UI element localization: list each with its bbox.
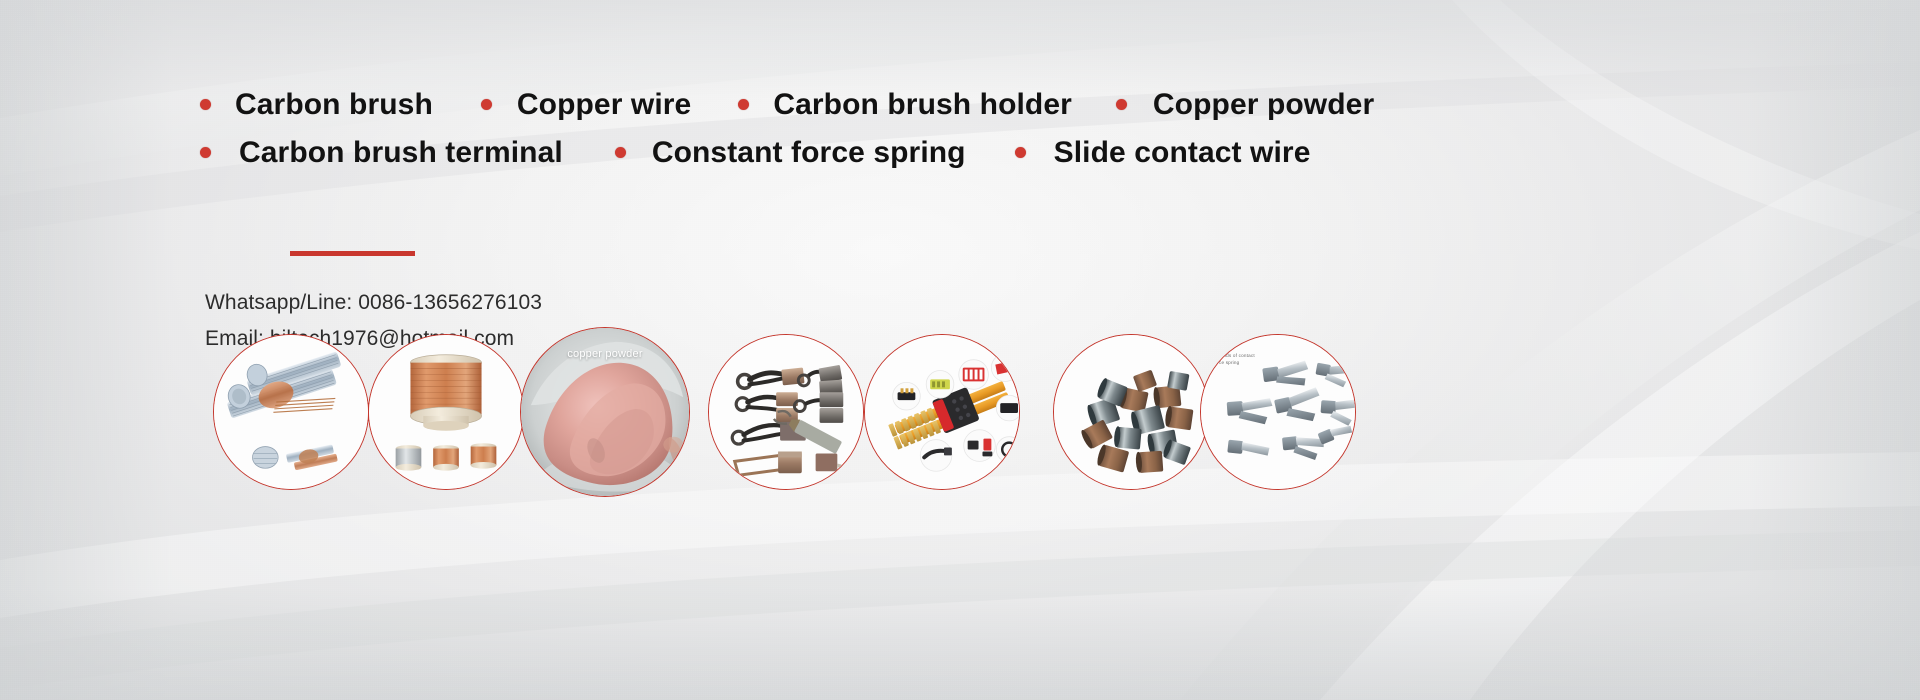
product-circle-carbon-brush-terminal[interactable] — [708, 334, 864, 490]
feature-item-carbon-brush-holder: Carbon brush holder — [738, 88, 1072, 121]
feature-row-2: Carbon brush terminal Constant force spr… — [232, 136, 1472, 169]
feature-item-carbon-brush-terminal: Carbon brush terminal — [200, 136, 563, 169]
contact-force-spring-caption: all kinds of contact force spring — [1213, 353, 1255, 366]
feature-label: Copper powder — [1153, 88, 1374, 121]
bullet-dot-icon — [481, 99, 492, 110]
feature-row-1: Carbon brush Copper wire Carbon brush ho… — [232, 88, 1472, 121]
copper-powder-caption: copper powder — [521, 348, 689, 360]
constant-force-spring-artwork — [1054, 335, 1208, 489]
feature-item-carbon-brush: Carbon brush — [200, 88, 433, 121]
braided-copper-wire-strip-artwork — [214, 335, 368, 489]
product-circle-contact-force-spring-assortment[interactable]: all kinds of contact force spring — [1200, 334, 1356, 490]
feature-label: Constant force spring — [652, 136, 966, 169]
product-circle-slide-contact-wire[interactable] — [864, 334, 1020, 490]
bullet-dot-icon — [1116, 99, 1127, 110]
feature-label: Carbon brush — [235, 88, 433, 121]
feature-item-constant-force-spring: Constant force spring — [615, 136, 966, 169]
product-circle-copper-wire-spool[interactable] — [368, 334, 524, 490]
feature-label: Carbon brush holder — [773, 88, 1072, 121]
product-circle-braided-copper-wire-strip[interactable] — [213, 334, 369, 490]
bullet-dot-icon — [1015, 147, 1026, 158]
feature-item-copper-powder: Copper powder — [1116, 88, 1374, 121]
bullet-dot-icon — [200, 99, 211, 110]
feature-label: Carbon brush terminal — [239, 136, 563, 169]
product-image-strip: copper powder — [0, 334, 1920, 514]
feature-label: Slide contact wire — [1054, 136, 1311, 169]
bullet-dot-icon — [200, 147, 211, 158]
product-banner: Carbon brush Copper wire Carbon brush ho… — [0, 0, 1920, 700]
feature-list: Carbon brush Copper wire Carbon brush ho… — [232, 88, 1472, 169]
copper-wire-spool-artwork — [369, 335, 523, 489]
feature-item-copper-wire: Copper wire — [481, 88, 691, 121]
red-divider-rule — [290, 251, 415, 256]
product-circle-copper-powder[interactable]: copper powder — [520, 327, 690, 497]
feature-label: Copper wire — [517, 88, 691, 121]
slide-contact-wire-artwork — [865, 335, 1019, 489]
whatsapp-line-text: Whatsapp/Line: 0086-13656276103 — [205, 285, 542, 321]
product-circle-constant-force-spring[interactable] — [1053, 334, 1209, 490]
carbon-brush-terminal-artwork — [709, 335, 863, 489]
bullet-dot-icon — [738, 99, 749, 110]
bullet-dot-icon — [615, 147, 626, 158]
feature-item-slide-contact-wire: Slide contact wire — [1015, 136, 1311, 169]
